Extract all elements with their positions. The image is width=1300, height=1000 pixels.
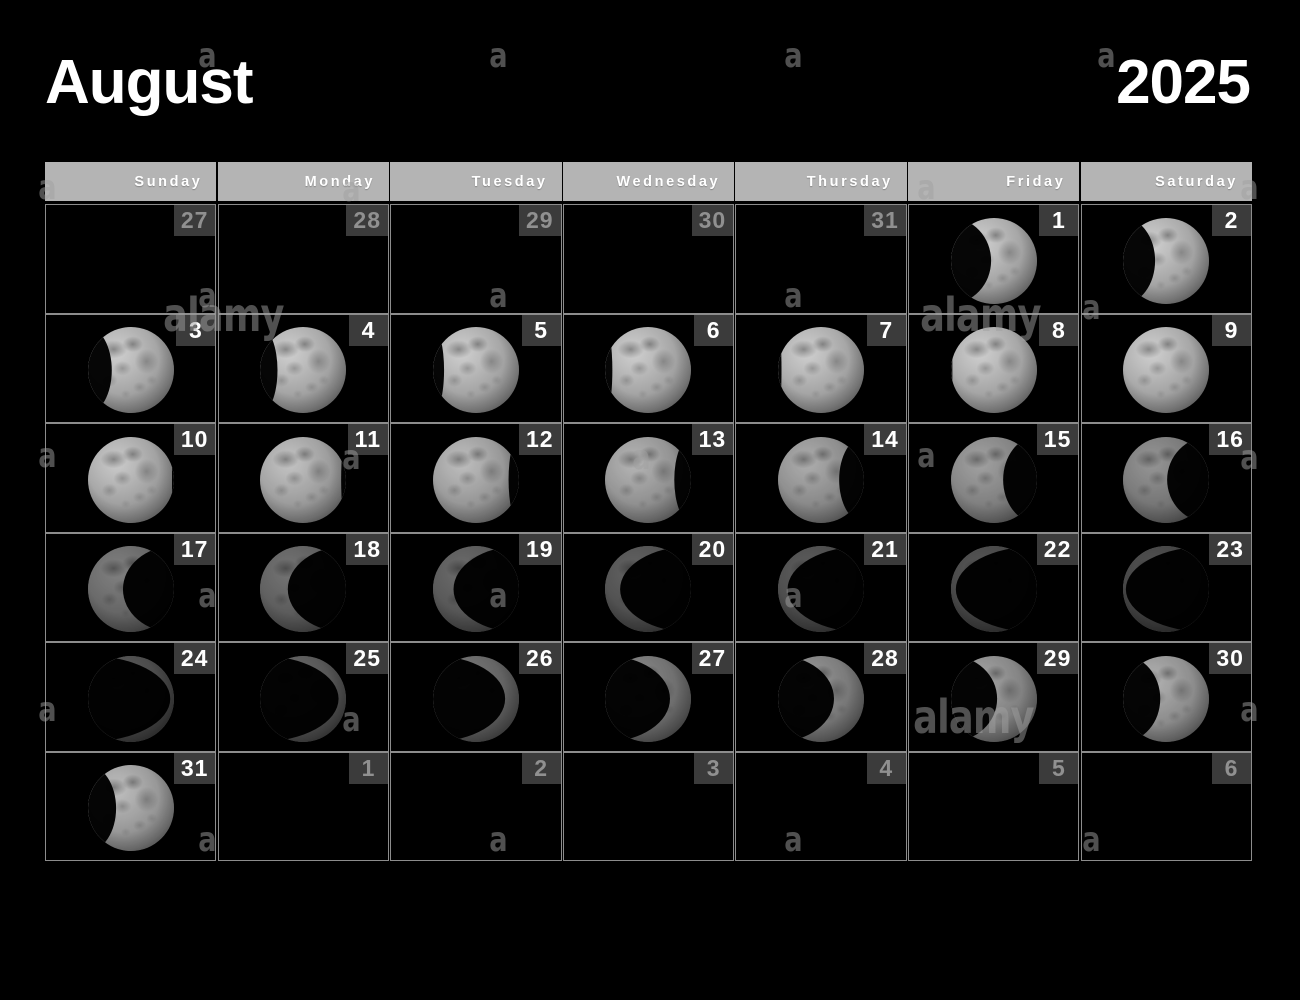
- day-number: 7: [867, 315, 906, 346]
- footer: 2K6EB9K alamy Image ID: 2K6EB9K www.alam…: [0, 926, 1300, 1000]
- moon-terminator-shadow: [1123, 218, 1209, 304]
- moon-phase-graphic: [951, 218, 1037, 304]
- moon-terminator-shadow: [605, 546, 691, 632]
- day-number-adjacent-month: 28: [346, 205, 388, 236]
- moon-phase-graphic: [605, 546, 691, 632]
- day-number: 5: [522, 315, 561, 346]
- moon-disc: [605, 437, 691, 523]
- moon-disc: [433, 327, 519, 413]
- day-number: 31: [174, 753, 216, 784]
- moon-phase-graphic: [433, 437, 519, 523]
- moon-phase-graphic: [605, 327, 691, 413]
- day-number-adjacent-month: 2: [522, 753, 561, 784]
- moon-terminator-shadow: [88, 546, 174, 632]
- day-number: 30: [1209, 643, 1251, 674]
- moon-disc: [260, 656, 346, 742]
- calendar-day-cell[interactable]: 13: [563, 423, 734, 533]
- calendar-week-row: 10111213141516: [45, 423, 1252, 533]
- moon-terminator-shadow: [778, 546, 864, 632]
- calendar-page: August 2025 SundayMondayTuesdayWednesday…: [0, 0, 1300, 1000]
- moon-terminator-shadow: [433, 546, 519, 632]
- day-number: 2: [1212, 205, 1251, 236]
- moon-terminator-shadow: [778, 437, 864, 523]
- calendar-day-cell[interactable]: 8: [908, 314, 1079, 424]
- moon-terminator-shadow: [605, 327, 691, 413]
- calendar-day-cell[interactable]: 30: [563, 204, 734, 314]
- weekday-header-monday: Monday: [218, 162, 389, 201]
- moon-phase-graphic: [1123, 327, 1209, 413]
- moon-phase-graphic: [951, 546, 1037, 632]
- moon-terminator-shadow: [778, 656, 864, 742]
- day-number: 16: [1209, 424, 1251, 455]
- calendar-day-cell[interactable]: 5: [908, 752, 1079, 862]
- moon-phase-graphic: [260, 327, 346, 413]
- moon-terminator-shadow: [605, 437, 691, 523]
- day-number: 29: [1037, 643, 1079, 674]
- calendar-day-cell[interactable]: 2: [390, 752, 561, 862]
- calendar-day-cell[interactable]: 10: [45, 423, 216, 533]
- day-number-adjacent-month: 3: [694, 753, 733, 784]
- moon-phase-graphic: [260, 656, 346, 742]
- calendar-day-cell[interactable]: 29: [390, 204, 561, 314]
- day-number-adjacent-month: 29: [519, 205, 561, 236]
- moon-phase-graphic: [778, 327, 864, 413]
- weekday-header-thursday: Thursday: [735, 162, 906, 201]
- calendar-day-cell[interactable]: 11: [218, 423, 389, 533]
- moon-phase-graphic: [88, 656, 174, 742]
- weekday-header-tuesday: Tuesday: [390, 162, 561, 201]
- moon-terminator-shadow: [951, 656, 1037, 742]
- calendar-day-cell[interactable]: 3: [563, 752, 734, 862]
- moon-terminator-shadow: [88, 437, 174, 523]
- calendar-day-cell[interactable]: 21: [735, 533, 906, 643]
- moon-terminator-shadow: [433, 437, 519, 523]
- moon-phase-graphic: [778, 656, 864, 742]
- day-number: 22: [1037, 534, 1079, 565]
- calendar-day-cell[interactable]: 31: [45, 752, 216, 862]
- calendar-day-cell[interactable]: 18: [218, 533, 389, 643]
- calendar-day-cell[interactable]: 7: [735, 314, 906, 424]
- moon-terminator-shadow: [778, 327, 864, 413]
- moon-phase-graphic: [1123, 656, 1209, 742]
- calendar-day-cell[interactable]: 23: [1081, 533, 1252, 643]
- moon-disc: [778, 656, 864, 742]
- weekday-header-label: Sunday: [134, 174, 216, 190]
- calendar-day-cell[interactable]: 1: [218, 752, 389, 862]
- moon-phase-graphic: [88, 437, 174, 523]
- moon-phase-graphic: [88, 327, 174, 413]
- day-number-adjacent-month: 6: [1212, 753, 1251, 784]
- day-number: 27: [692, 643, 734, 674]
- moon-disc: [778, 546, 864, 632]
- moon-terminator-shadow: [260, 656, 346, 742]
- moon-disc: [433, 656, 519, 742]
- day-number-adjacent-month: 31: [864, 205, 906, 236]
- day-number: 1: [1039, 205, 1078, 236]
- moon-disc: [1123, 327, 1209, 413]
- moon-disc: [1123, 656, 1209, 742]
- month-title: August: [45, 52, 253, 114]
- moon-terminator-shadow: [951, 327, 1037, 413]
- moon-disc: [260, 327, 346, 413]
- day-number: 11: [348, 424, 388, 455]
- weekday-header-label: Saturday: [1155, 174, 1252, 190]
- calendar-week-row: 3456789: [45, 314, 1252, 424]
- moon-phase-graphic: [951, 437, 1037, 523]
- moon-phase-graphic: [605, 656, 691, 742]
- calendar-day-cell[interactable]: 16: [1081, 423, 1252, 533]
- calendar-title-row: August 2025: [45, 52, 1250, 114]
- moon-disc: [605, 546, 691, 632]
- day-number: 15: [1037, 424, 1079, 455]
- moon-phase-graphic: [1123, 218, 1209, 304]
- moon-terminator-shadow: [951, 437, 1037, 523]
- day-number: 12: [519, 424, 561, 455]
- day-number-adjacent-month: 5: [1039, 753, 1078, 784]
- day-number: 25: [346, 643, 388, 674]
- moon-terminator-shadow: [951, 218, 1037, 304]
- day-number-adjacent-month: 1: [349, 753, 388, 784]
- moon-phase-graphic: [260, 437, 346, 523]
- day-number: 21: [864, 534, 906, 565]
- moon-disc: [88, 765, 174, 851]
- moon-phase-graphic: [778, 437, 864, 523]
- moon-phase-graphic: [88, 546, 174, 632]
- calendar-week-row: 272829303112: [45, 204, 1252, 314]
- calendar-day-cell[interactable]: 6: [1081, 752, 1252, 862]
- day-number-adjacent-month: 27: [174, 205, 216, 236]
- day-number: 4: [349, 315, 388, 346]
- calendar-day-cell[interactable]: 29: [908, 642, 1079, 752]
- calendar-week-row: 24252627282930: [45, 642, 1252, 752]
- day-number: 20: [692, 534, 734, 565]
- day-number: 3: [176, 315, 215, 346]
- day-number: 13: [692, 424, 734, 455]
- calendar-day-cell[interactable]: 30: [1081, 642, 1252, 752]
- moon-disc: [88, 546, 174, 632]
- calendar-day-cell[interactable]: 22: [908, 533, 1079, 643]
- moon-disc: [88, 656, 174, 742]
- moon-disc: [605, 327, 691, 413]
- day-number: 6: [694, 315, 733, 346]
- calendar-day-cell[interactable]: 6: [563, 314, 734, 424]
- moon-terminator-shadow: [605, 656, 691, 742]
- calendar-day-cell[interactable]: 3: [45, 314, 216, 424]
- moon-phase-graphic: [778, 546, 864, 632]
- calendar-day-cell[interactable]: 24: [45, 642, 216, 752]
- calendar-day-cell[interactable]: 5: [390, 314, 561, 424]
- year-title: 2025: [1116, 52, 1250, 114]
- calendar-day-cell[interactable]: 28: [218, 204, 389, 314]
- calendar-grid: SundayMondayTuesdayWednesdayThursdayFrid…: [45, 162, 1252, 861]
- calendar-day-cell[interactable]: 12: [390, 423, 561, 533]
- weekday-header-row: SundayMondayTuesdayWednesdayThursdayFrid…: [45, 162, 1252, 201]
- weekday-header-friday: Friday: [908, 162, 1079, 201]
- day-number: 18: [346, 534, 388, 565]
- moon-phase-graphic: [433, 327, 519, 413]
- day-number: 8: [1039, 315, 1078, 346]
- calendar-day-cell[interactable]: 2: [1081, 204, 1252, 314]
- moon-disc: [433, 437, 519, 523]
- calendar-day-cell[interactable]: 14: [735, 423, 906, 533]
- calendar-day-cell[interactable]: 4: [218, 314, 389, 424]
- moon-terminator-shadow: [260, 546, 346, 632]
- day-number: 10: [174, 424, 216, 455]
- moon-disc: [778, 437, 864, 523]
- day-number: 23: [1209, 534, 1251, 565]
- weekday-header-label: Friday: [1006, 174, 1079, 190]
- moon-phase-graphic: [951, 327, 1037, 413]
- moon-terminator-shadow: [260, 437, 346, 523]
- moon-disc: [260, 546, 346, 632]
- moon-phase-graphic: [260, 546, 346, 632]
- weekday-header-label: Monday: [305, 174, 389, 190]
- day-number-adjacent-month: 30: [692, 205, 734, 236]
- calendar-day-cell[interactable]: 9: [1081, 314, 1252, 424]
- moon-disc: [88, 327, 174, 413]
- day-number-adjacent-month: 4: [867, 753, 906, 784]
- calendar-day-cell[interactable]: 25: [218, 642, 389, 752]
- day-number: 24: [174, 643, 216, 674]
- calendar-week-row: 17181920212223: [45, 533, 1252, 643]
- moon-terminator-shadow: [433, 327, 519, 413]
- day-number: 17: [174, 534, 216, 565]
- moon-terminator-shadow: [1123, 437, 1209, 523]
- moon-terminator-shadow: [951, 546, 1037, 632]
- moon-disc: [951, 327, 1037, 413]
- moon-terminator-shadow: [1123, 656, 1209, 742]
- moon-disc: [1123, 218, 1209, 304]
- moon-phase-graphic: [88, 765, 174, 851]
- moon-terminator-shadow: [1123, 546, 1209, 632]
- moon-phase-graphic: [1123, 437, 1209, 523]
- moon-phase-graphic: [605, 437, 691, 523]
- day-number: 19: [519, 534, 561, 565]
- calendar-day-cell[interactable]: 15: [908, 423, 1079, 533]
- moon-phase-graphic: [1123, 546, 1209, 632]
- moon-disc: [951, 546, 1037, 632]
- weekday-header-label: Tuesday: [472, 174, 562, 190]
- moon-disc: [951, 437, 1037, 523]
- calendar-day-cell[interactable]: 31: [735, 204, 906, 314]
- day-number: 14: [864, 424, 906, 455]
- moon-phase-graphic: [433, 546, 519, 632]
- moon-disc: [951, 218, 1037, 304]
- moon-disc: [1123, 546, 1209, 632]
- weekday-header-wednesday: Wednesday: [563, 162, 734, 201]
- calendar-day-cell[interactable]: 20: [563, 533, 734, 643]
- calendar-day-cell[interactable]: 27: [563, 642, 734, 752]
- weekday-header-label: Wednesday: [616, 174, 734, 190]
- moon-terminator-shadow: [88, 327, 174, 413]
- day-number: 26: [519, 643, 561, 674]
- moon-terminator-shadow: [260, 327, 346, 413]
- calendar-day-cell[interactable]: 4: [735, 752, 906, 862]
- weekday-header-sunday: Sunday: [45, 162, 216, 201]
- moon-disc: [260, 437, 346, 523]
- calendar-day-cell[interactable]: 28: [735, 642, 906, 752]
- moon-disc: [605, 656, 691, 742]
- moon-disc: [951, 656, 1037, 742]
- moon-disc: [433, 546, 519, 632]
- calendar-day-cell[interactable]: 19: [390, 533, 561, 643]
- calendar-day-cell[interactable]: 27: [45, 204, 216, 314]
- moon-phase-graphic: [433, 656, 519, 742]
- moon-terminator-shadow: [433, 656, 519, 742]
- calendar-day-cell[interactable]: 17: [45, 533, 216, 643]
- moon-terminator-shadow: [88, 765, 174, 851]
- weekday-header-label: Thursday: [807, 174, 907, 190]
- calendar-week-row: 31123456: [45, 752, 1252, 862]
- moon-terminator-shadow: [88, 656, 174, 742]
- day-number: 9: [1212, 315, 1251, 346]
- weekday-header-saturday: Saturday: [1081, 162, 1252, 201]
- calendar-day-cell[interactable]: 26: [390, 642, 561, 752]
- moon-disc: [1123, 437, 1209, 523]
- day-number: 28: [864, 643, 906, 674]
- moon-phase-graphic: [951, 656, 1037, 742]
- moon-disc: [88, 437, 174, 523]
- calendar-day-cell[interactable]: 1: [908, 204, 1079, 314]
- moon-disc: [778, 327, 864, 413]
